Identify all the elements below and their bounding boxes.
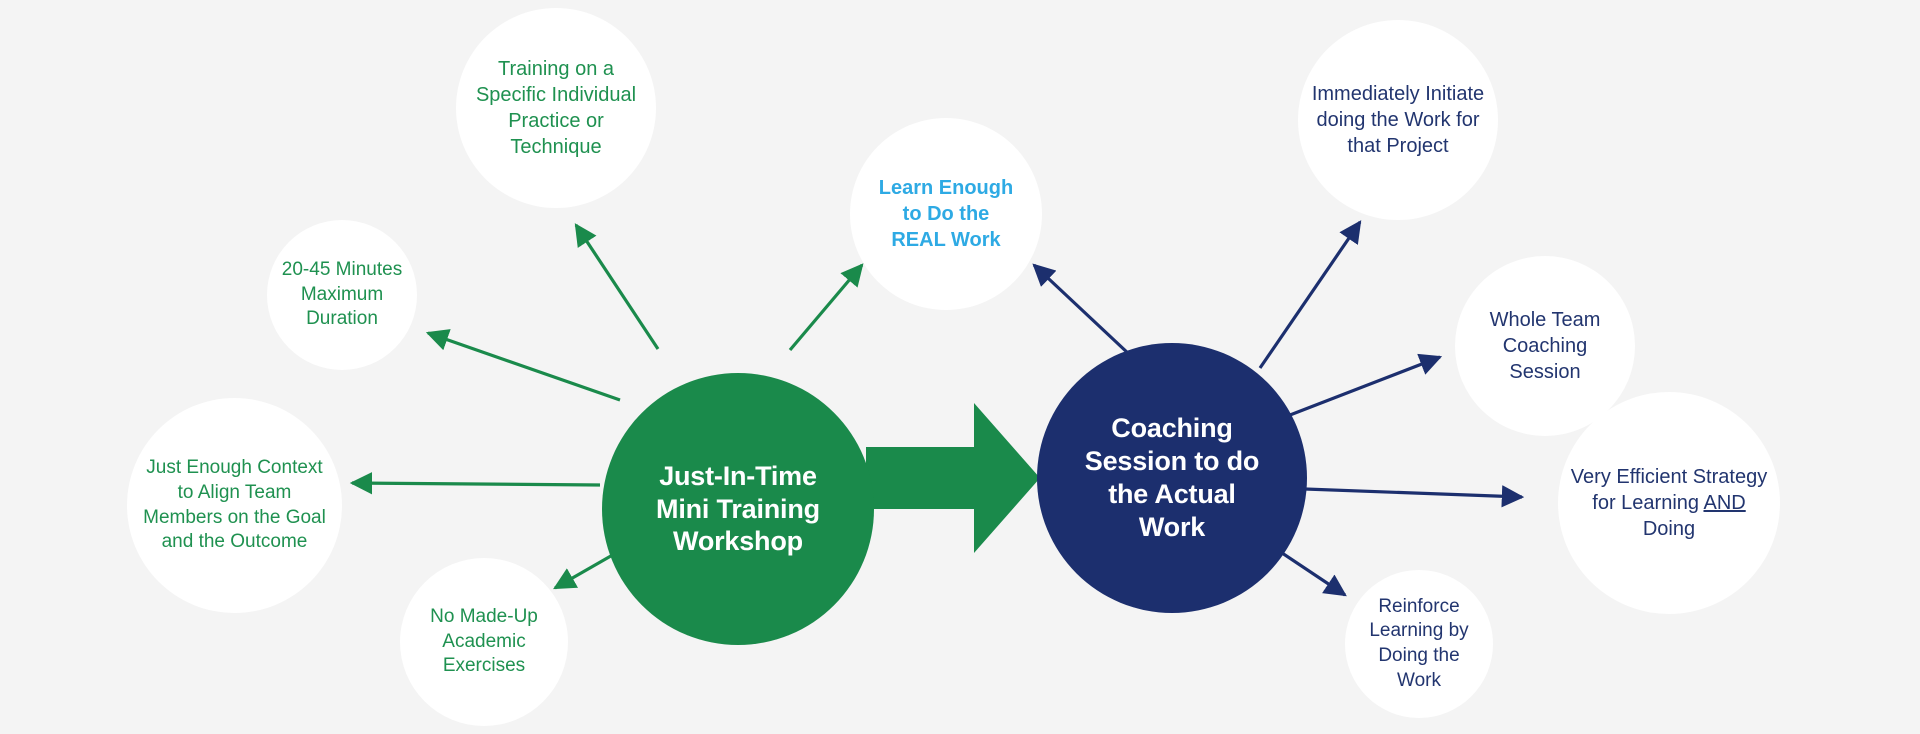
- note-learn-enough-label: Learn Enough to Do the REAL Work: [869, 175, 1023, 253]
- hub-right-line-2: Session to do: [1085, 446, 1259, 476]
- satellite-duration-label: 20-45 Minutes Maximum Duration: [267, 258, 417, 332]
- connector-to-training-technique: [576, 225, 658, 349]
- connector-to-immediately-initiate: [1260, 222, 1360, 368]
- hub-just-in-time-workshop-label: Just-In-Time Mini Training Workshop: [656, 460, 820, 559]
- satellite-training-technique[interactable]: Training on a Specific Individual Practi…: [456, 8, 656, 208]
- hub-left-line-2: Mini Training: [656, 494, 820, 524]
- connector-to-learn-enough-blue: [1034, 265, 1130, 355]
- very-efficient-and-underlined: AND: [1703, 492, 1745, 514]
- hub-transition-arrow: [866, 403, 1040, 553]
- hub-right-line-1: Coaching: [1111, 413, 1232, 443]
- connector-to-context: [352, 483, 600, 485]
- connector-to-very-efficient: [1305, 489, 1522, 497]
- satellite-context-alignment[interactable]: Just Enough Context to Align Team Member…: [127, 398, 342, 613]
- satellite-context-alignment-label: Just Enough Context to Align Team Member…: [127, 456, 342, 555]
- satellite-reinforce-learning-label: Reinforce Learning by Doing the Work: [1345, 595, 1493, 694]
- note-line-1: Learn Enough: [879, 177, 1013, 199]
- diagram-canvas: Training on a Specific Individual Practi…: [0, 0, 1920, 734]
- satellite-whole-team-coaching-label: Whole Team Coaching Session: [1455, 307, 1635, 385]
- satellite-training-technique-label: Training on a Specific Individual Practi…: [456, 56, 656, 160]
- satellite-duration[interactable]: 20-45 Minutes Maximum Duration: [267, 220, 417, 370]
- hub-right-line-4: Work: [1139, 512, 1205, 542]
- satellite-very-efficient-strategy-label: Very Efficient Strategy for Learning AND…: [1558, 464, 1780, 542]
- hub-right-line-3: the Actual: [1108, 479, 1236, 509]
- connector-to-learn-enough: [790, 265, 862, 350]
- hub-coaching-session[interactable]: Coaching Session to do the Actual Work: [1037, 343, 1307, 613]
- satellite-reinforce-learning[interactable]: Reinforce Learning by Doing the Work: [1345, 570, 1493, 718]
- satellite-immediately-initiate-label: Immediately Initiate doing the Work for …: [1298, 81, 1498, 159]
- connector-to-whole-team: [1290, 357, 1440, 415]
- note-line-3: REAL Work: [891, 229, 1000, 251]
- connector-to-duration: [428, 333, 620, 400]
- hub-just-in-time-workshop[interactable]: Just-In-Time Mini Training Workshop: [602, 373, 874, 645]
- very-efficient-text-after: Doing: [1643, 518, 1695, 540]
- hub-left-line-1: Just-In-Time: [659, 461, 817, 491]
- satellite-no-academic-exercises-label: No Made-Up Academic Exercises: [400, 605, 568, 679]
- hub-coaching-session-label: Coaching Session to do the Actual Work: [1085, 412, 1259, 544]
- satellite-no-academic-exercises[interactable]: No Made-Up Academic Exercises: [400, 558, 568, 726]
- satellite-immediately-initiate[interactable]: Immediately Initiate doing the Work for …: [1298, 20, 1498, 220]
- note-learn-enough[interactable]: Learn Enough to Do the REAL Work: [850, 118, 1042, 310]
- hub-left-line-3: Workshop: [673, 526, 803, 556]
- satellite-very-efficient-strategy[interactable]: Very Efficient Strategy for Learning AND…: [1558, 392, 1780, 614]
- note-line-2: to Do the: [903, 203, 990, 225]
